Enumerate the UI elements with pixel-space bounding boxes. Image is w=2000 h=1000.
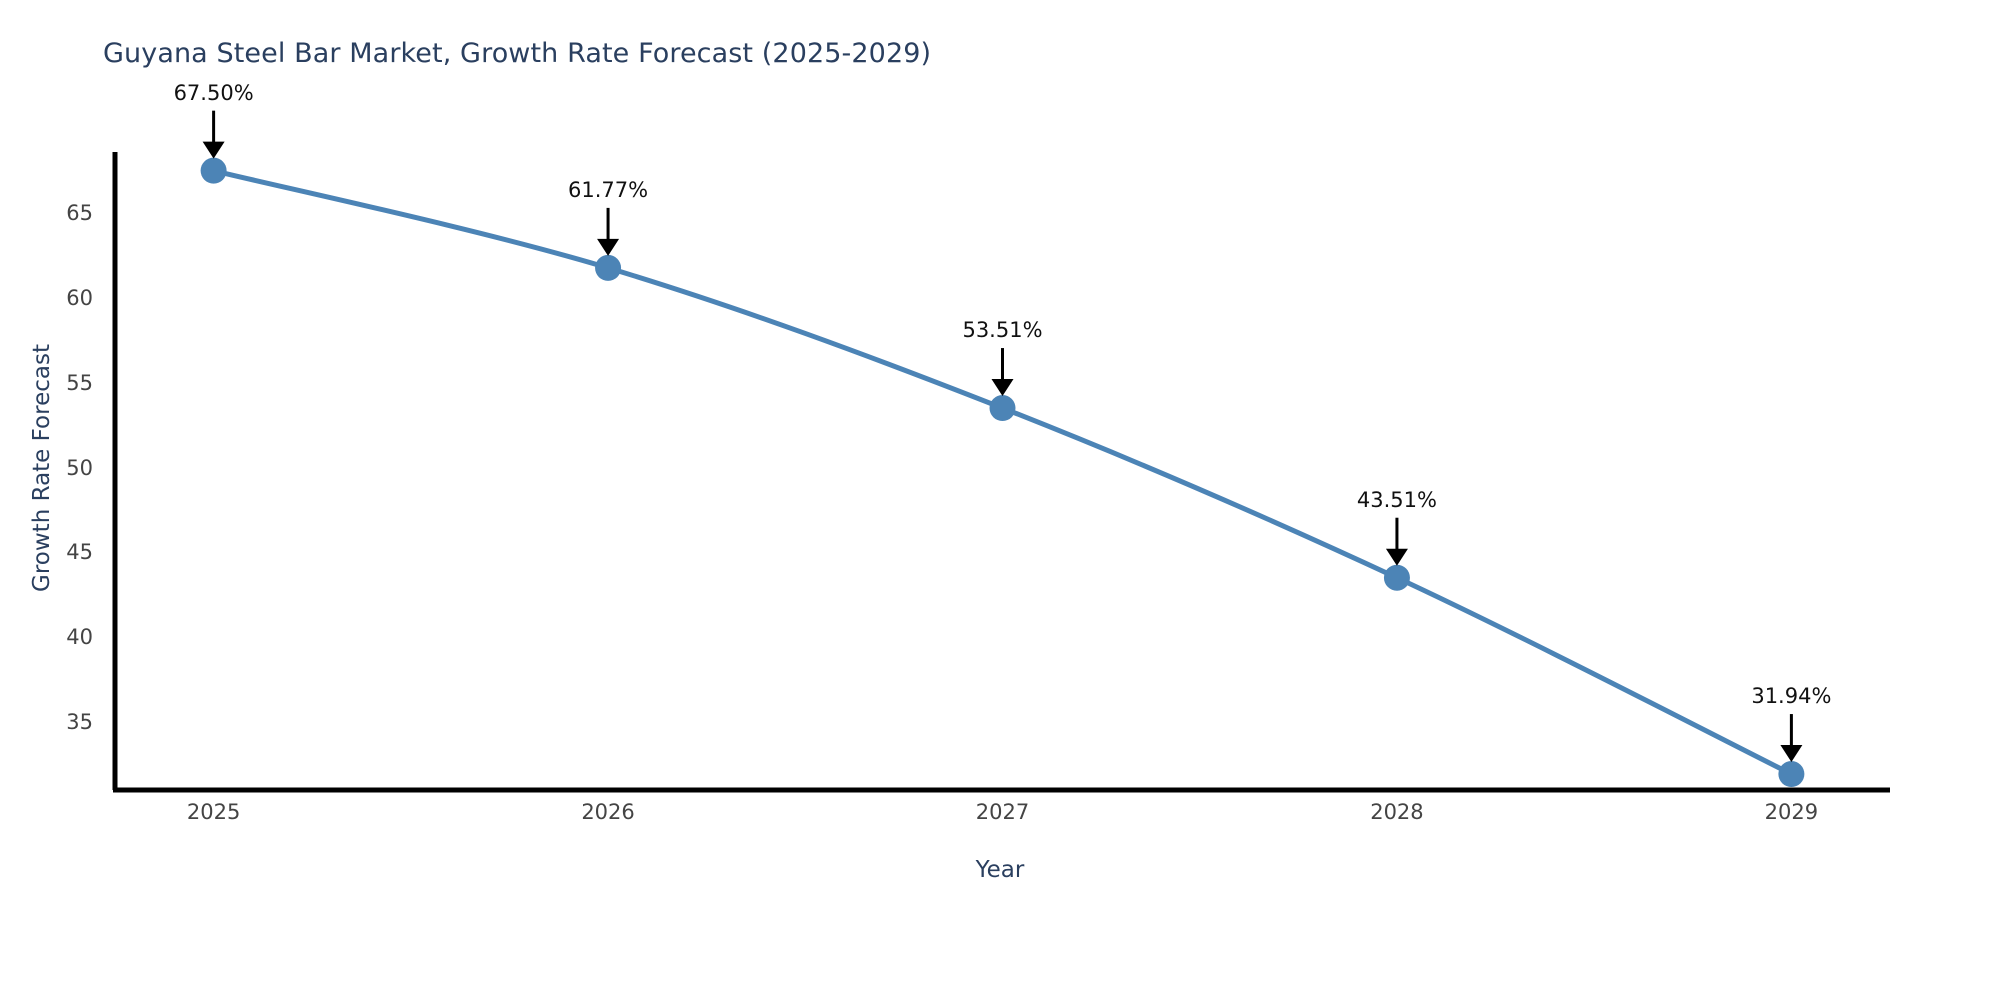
data-point-marker[interactable]: [1384, 565, 1410, 591]
annotation-arrows: [203, 111, 1803, 762]
series-line: [214, 171, 1792, 774]
chart-figure: Guyana Steel Bar Market, Growth Rate For…: [0, 0, 2000, 1000]
axis-spines: [113, 152, 1890, 790]
data-point-marker[interactable]: [595, 255, 621, 281]
annotation-arrow-head: [1386, 549, 1408, 566]
data-point-marker[interactable]: [990, 395, 1016, 421]
data-point-marker[interactable]: [1778, 761, 1804, 787]
data-point-marker[interactable]: [201, 158, 227, 184]
data-point-markers: [201, 158, 1805, 787]
annotation-arrow-head: [597, 239, 619, 256]
annotation-arrow-head: [992, 379, 1014, 396]
plot-area: [0, 0, 2000, 1000]
annotation-arrow-head: [1780, 745, 1802, 762]
annotation-arrow-head: [203, 142, 225, 159]
data-series-line: [214, 171, 1792, 774]
